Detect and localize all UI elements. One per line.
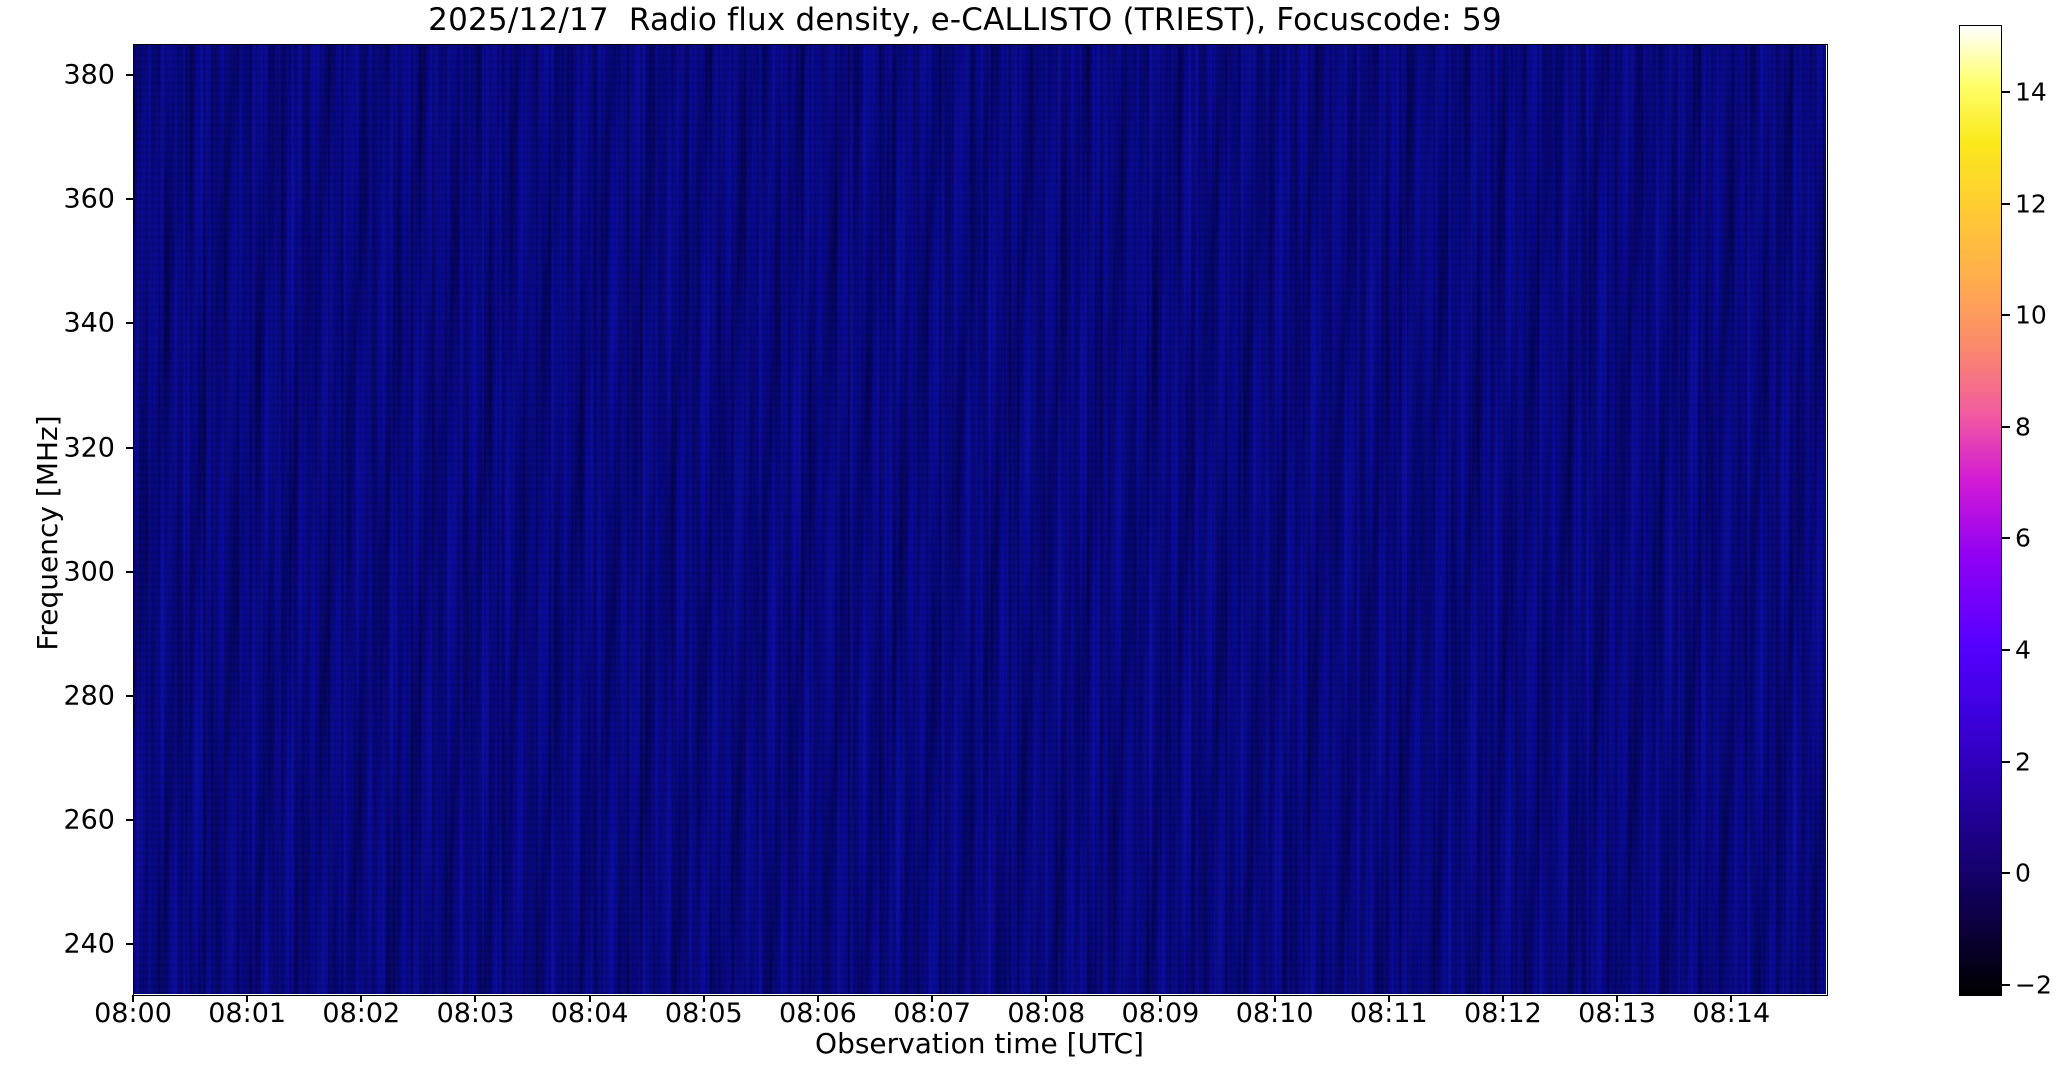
colorbar-tick-label: −2: [2015, 972, 2052, 997]
colorbar-tick-mark: [2002, 91, 2010, 93]
x-tick-label: 08:11: [1350, 1000, 1428, 1027]
colorbar-tick-label: 12: [2015, 191, 2047, 216]
x-axis-label: Observation time [UTC]: [133, 1030, 1826, 1058]
x-tick-label: 08:02: [322, 1000, 400, 1027]
colorbar[interactable]: 14121086420−2: [1959, 25, 2002, 996]
x-tick-label: 08:14: [1692, 1000, 1770, 1027]
colorbar-tick-mark: [2002, 426, 2010, 428]
colorbar-gradient: [1959, 25, 2002, 996]
x-tick-label: 08:12: [1464, 1000, 1542, 1027]
x-tick-label: 08:03: [437, 1000, 515, 1027]
colorbar-tick-label: 4: [2015, 638, 2031, 663]
colorbar-tick-label: 0: [2015, 861, 2031, 886]
colorbar-tick-mark: [2002, 761, 2010, 763]
colorbar-tick-label: 2: [2015, 749, 2031, 774]
colorbar-tick-label: 6: [2015, 526, 2031, 551]
x-tick-label: 08:10: [1236, 1000, 1314, 1027]
colorbar-tick-mark: [2002, 649, 2010, 651]
colorbar-tick-label: 8: [2015, 414, 2031, 439]
colorbar-tick-mark: [2002, 314, 2010, 316]
colorbar-tick-label: 10: [2015, 303, 2047, 328]
x-tick-label: 08:06: [779, 1000, 857, 1027]
colorbar-tick-mark: [2002, 872, 2010, 874]
colorbar-tick-mark: [2002, 984, 2010, 986]
x-tick-label: 08:07: [893, 1000, 971, 1027]
x-tick-label: 08:04: [551, 1000, 629, 1027]
figure-canvas: 2025/12/17 Radio flux density, e-CALLIST…: [0, 0, 2066, 1067]
x-tick-label: 08:00: [94, 1000, 172, 1027]
x-axis: 08:0008:0108:0208:0308:0408:0508:0608:07…: [0, 0, 2066, 1067]
x-tick-label: 08:01: [208, 1000, 286, 1027]
colorbar-tick-mark: [2002, 203, 2010, 205]
colorbar-tick-label: 14: [2015, 79, 2047, 104]
x-tick-label: 08:13: [1578, 1000, 1656, 1027]
colorbar-tick-mark: [2002, 537, 2010, 539]
x-tick-label: 08:05: [665, 1000, 743, 1027]
x-tick-label: 08:09: [1122, 1000, 1200, 1027]
x-tick-label: 08:08: [1007, 1000, 1085, 1027]
